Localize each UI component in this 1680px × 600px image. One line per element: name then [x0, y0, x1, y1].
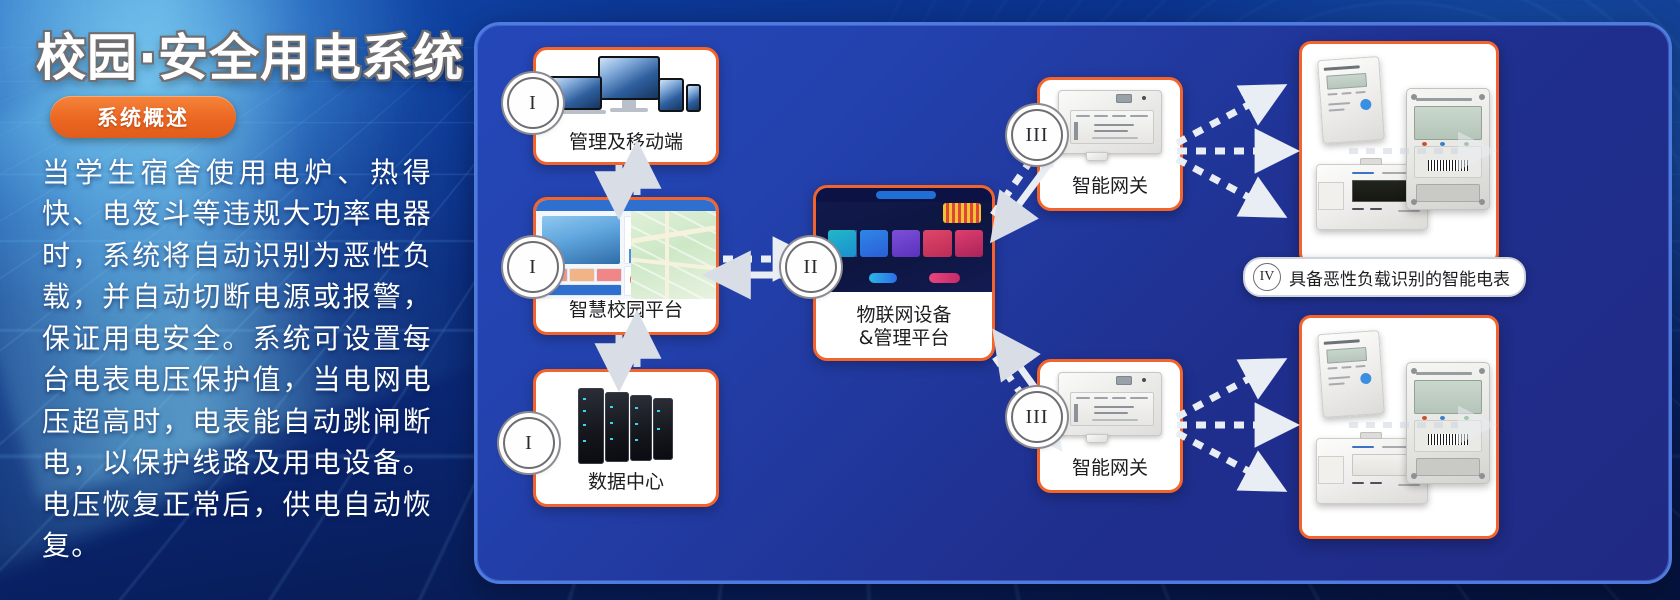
- architecture-diagram: 管理及移动端 I: [474, 22, 1672, 584]
- badge-admin-mobile: I: [507, 77, 559, 129]
- badge-gateway-bottom: III: [1011, 391, 1063, 443]
- system-overview-text: 当学生宿舍使用电炉、热得快、电笈斗等违规大功率电器时，系统将自动识别为恶性负载，…: [42, 152, 432, 566]
- arrow-admin-campus: [619, 165, 637, 195]
- section-badge-label: 系统概述: [97, 102, 189, 132]
- arrow-gateway-top-meters: [1177, 95, 1277, 207]
- meter-caption-chip[interactable]: IV 具备恶性负载识别的智能电表: [1243, 257, 1526, 297]
- arrow-campus-datacenter: [619, 335, 637, 367]
- section-badge: 系统概述: [50, 96, 236, 138]
- page-title: 校园·安全用电系统: [36, 18, 464, 90]
- connector-arrows: [477, 25, 1663, 575]
- badge-smart-campus: I: [507, 241, 559, 293]
- arrow-gateway-bottom-meters: [1177, 369, 1277, 481]
- badge-meter-caption: IV: [1253, 263, 1281, 291]
- meter-caption-label: 具备恶性负载识别的智能电表: [1289, 265, 1510, 290]
- badge-iot-platform: II: [785, 241, 837, 293]
- infographic-root: 校园·安全用电系统 系统概述 当学生宿舍使用电炉、热得快、电笈斗等违规大功率电器…: [0, 0, 1680, 600]
- badge-data-center: I: [503, 417, 555, 469]
- badge-gateway-top: III: [1011, 109, 1063, 161]
- left-text-panel: 校园·安全用电系统 系统概述 当学生宿舍使用电炉、热得快、电笈斗等违规大功率电器…: [0, 0, 468, 600]
